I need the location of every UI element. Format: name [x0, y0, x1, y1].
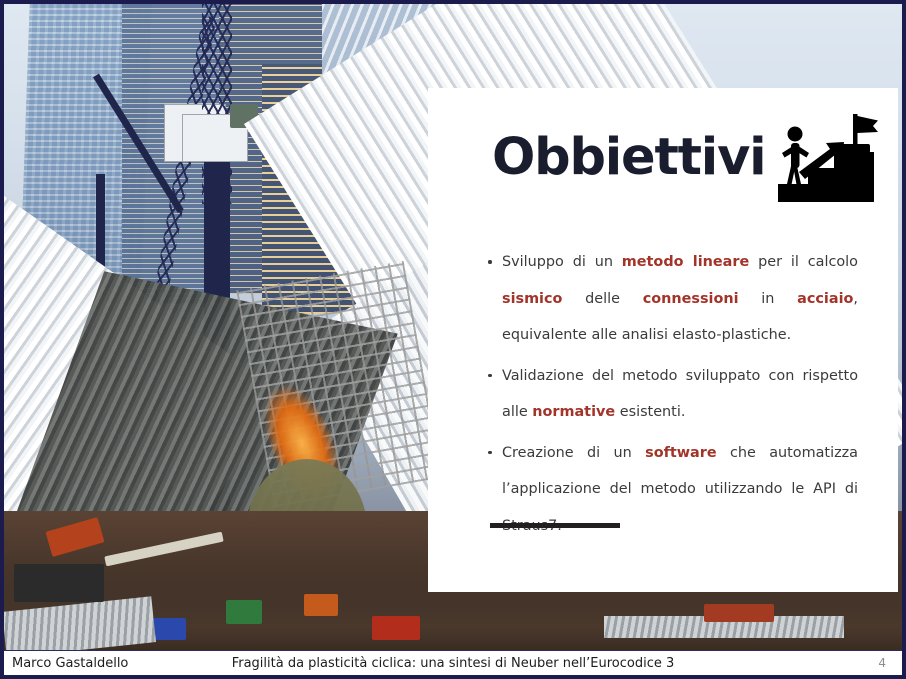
machine-orange-center — [304, 594, 338, 616]
dark-container — [14, 564, 104, 602]
bullet-text-1: Sviluppo di un metodo lineare per il cal… — [502, 254, 858, 343]
goal-stairs-flag-icon — [772, 110, 880, 206]
footer-page-number: 4 — [878, 656, 886, 670]
container-green — [226, 600, 262, 624]
machine-red-right — [372, 616, 420, 640]
content-panel: Obbiettivi — [428, 88, 898, 592]
page-title: Obbiettivi — [492, 132, 765, 183]
objectives-list: Sviluppo di un metodo lineare per il cal… — [488, 244, 858, 548]
bullet-text-2: Validazione del metodo sviluppato con ri… — [502, 368, 858, 421]
list-item: Sviluppo di un metodo lineare per il cal… — [488, 244, 858, 354]
footer-title: Fragilità da plasticità ciclica: una sin… — [4, 656, 902, 671]
slide-root: Obbiettivi — [0, 0, 906, 679]
list-item: Validazione del metodo sviluppato con ri… — [488, 358, 858, 431]
truck-right — [704, 604, 774, 622]
slide-footer: Marco Gastaldello Fragilità da plasticit… — [4, 650, 902, 675]
bullet-text-3: Creazione di un software che automatizza… — [502, 445, 858, 534]
accent-rule — [490, 523, 620, 528]
